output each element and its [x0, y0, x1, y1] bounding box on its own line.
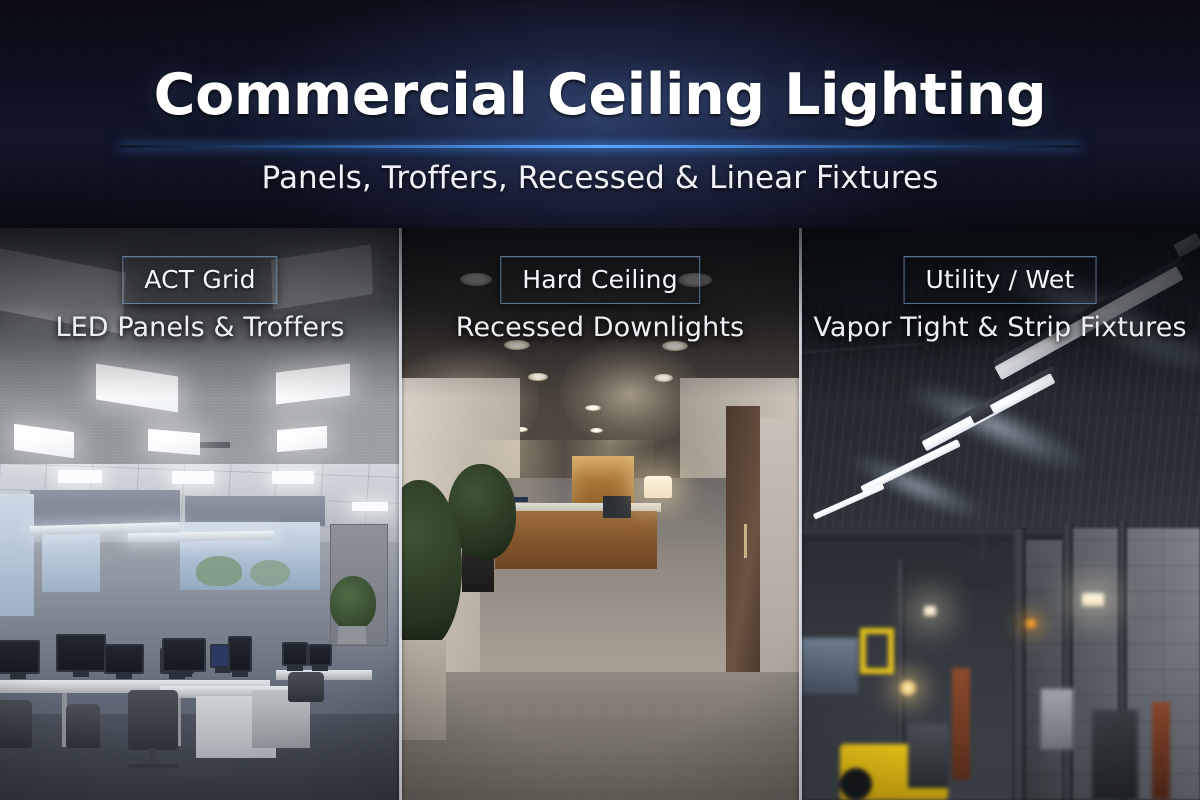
equipment-rack	[1092, 710, 1138, 800]
warehouse-window	[800, 638, 858, 694]
panel-row: ACT Grid LED Panels & Troffers	[0, 228, 1200, 800]
steel-column	[1062, 524, 1073, 800]
wall-pack-light	[1082, 593, 1104, 606]
office-soffit	[30, 490, 180, 526]
machine-post	[952, 668, 970, 780]
forklift-mast	[860, 628, 894, 674]
caption-act-grid: LED Panels & Troffers	[0, 312, 400, 343]
badge-act-grid[interactable]: ACT Grid	[122, 256, 277, 304]
led-panel-fixture	[148, 429, 200, 456]
recessed-downlight	[590, 428, 603, 433]
header-banner: Commercial Ceiling Lighting Panels, Trof…	[0, 0, 1200, 230]
panel-act-grid[interactable]: ACT Grid LED Panels & Troffers	[0, 228, 400, 800]
recessed-downlight	[585, 405, 601, 411]
led-panel-fixture	[58, 470, 102, 483]
office-chair	[288, 672, 324, 702]
office-window	[0, 494, 34, 616]
reception-desk	[495, 511, 657, 569]
badge-utility-wet[interactable]: Utility / Wet	[904, 256, 1097, 304]
led-panel-fixture	[277, 426, 327, 452]
led-panel-fixture	[172, 471, 214, 484]
panel-utility-wet[interactable]: Utility / Wet Vapor Tight & Strip Fixtur…	[800, 228, 1200, 800]
window-tree	[196, 556, 242, 586]
door-handle	[744, 524, 747, 558]
lobby-carpet	[400, 672, 800, 800]
office-window	[42, 526, 100, 592]
office-monitor	[282, 642, 308, 666]
desk-monitor	[603, 496, 631, 518]
led-panel-fixture	[352, 502, 388, 511]
office-chair	[0, 700, 32, 748]
office-monitor	[308, 644, 332, 666]
open-office-scene	[0, 464, 400, 800]
ceiling-air-diffuser	[196, 442, 230, 448]
wall-pack-light	[924, 606, 936, 616]
office-monitor	[0, 640, 40, 674]
page-subtitle: Panels, Troffers, Recessed & Linear Fixt…	[0, 160, 1200, 196]
office-plant	[330, 576, 376, 630]
table-lamp	[644, 476, 672, 498]
planter	[338, 626, 366, 644]
panel-divider-1	[399, 228, 402, 800]
forklift-wheel	[840, 768, 872, 800]
caption-utility-wet: Vapor Tight & Strip Fixtures	[800, 312, 1200, 343]
office-monitor	[228, 636, 252, 672]
equipment-drop-rod	[980, 528, 984, 562]
page-title: Commercial Ceiling Lighting	[0, 62, 1200, 128]
window-tree	[250, 560, 290, 586]
office-chair	[128, 764, 178, 768]
electrical-panel	[1040, 688, 1074, 750]
office-monitor	[162, 638, 206, 672]
office-chair	[66, 704, 100, 748]
machine-seat	[908, 724, 948, 788]
office-monitor	[104, 644, 144, 674]
badge-hard-ceiling[interactable]: Hard Ceiling	[500, 256, 700, 304]
accent-divider-line	[120, 145, 1080, 148]
task-light	[900, 680, 916, 696]
panel-divider-2	[799, 228, 802, 800]
office-chair	[128, 690, 178, 750]
structural-beam	[800, 528, 1070, 540]
equipment-post	[1152, 702, 1170, 800]
office-monitor	[56, 634, 106, 672]
led-panel-fixture	[272, 471, 314, 484]
poster-canvas: Commercial Ceiling Lighting Panels, Trof…	[0, 0, 1200, 800]
panel-hard-ceiling[interactable]: Hard Ceiling Recessed Downlights	[400, 228, 800, 800]
caption-hard-ceiling: Recessed Downlights	[400, 312, 800, 343]
amber-indicator-light	[1025, 618, 1037, 629]
steel-column	[1012, 528, 1026, 800]
planter	[400, 640, 446, 740]
